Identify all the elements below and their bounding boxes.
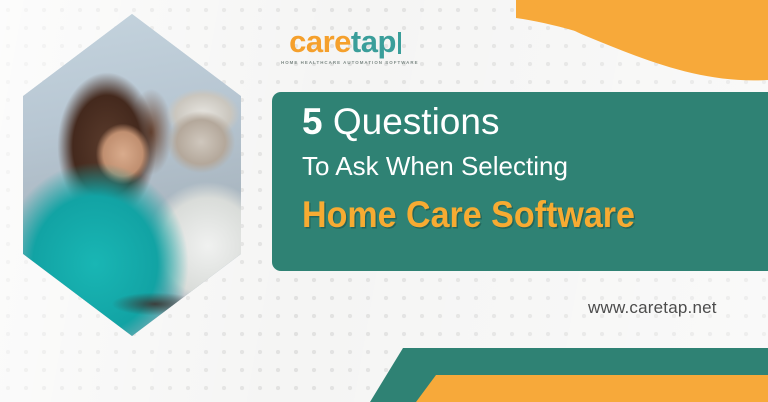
- logo-care-text: care: [289, 24, 351, 59]
- photo-frame: [23, 14, 241, 336]
- logo-tap-text: tap: [351, 24, 396, 59]
- headline-panel: 5 Questions To Ask When Selecting Home C…: [272, 92, 768, 271]
- headline-line-3: Home Care Software: [302, 196, 635, 233]
- logo-accent-bar: [398, 32, 401, 54]
- caregiver-and-senior-photo: [23, 14, 241, 336]
- headline-number: 5: [302, 101, 323, 142]
- caretap-logo[interactable]: caretap HOME HEALTHCARE AUTOMATION SOFTW…: [281, 26, 409, 65]
- orange-angled-bar: [416, 375, 768, 402]
- logo-wordmark: caretap: [281, 26, 409, 57]
- headline-questions-text: Questions: [323, 101, 500, 142]
- website-url[interactable]: www.caretap.net: [588, 298, 717, 318]
- hexagon-mask: [23, 14, 241, 336]
- promo-banner: caretap HOME HEALTHCARE AUTOMATION SOFTW…: [0, 0, 768, 402]
- logo-tagline: HOME HEALTHCARE AUTOMATION SOFTWARE: [281, 60, 409, 65]
- headline-line-2: To Ask When Selecting: [302, 153, 568, 179]
- orange-wave-shape-inner: [530, 0, 768, 80]
- headline-line-1: 5 Questions: [302, 103, 499, 140]
